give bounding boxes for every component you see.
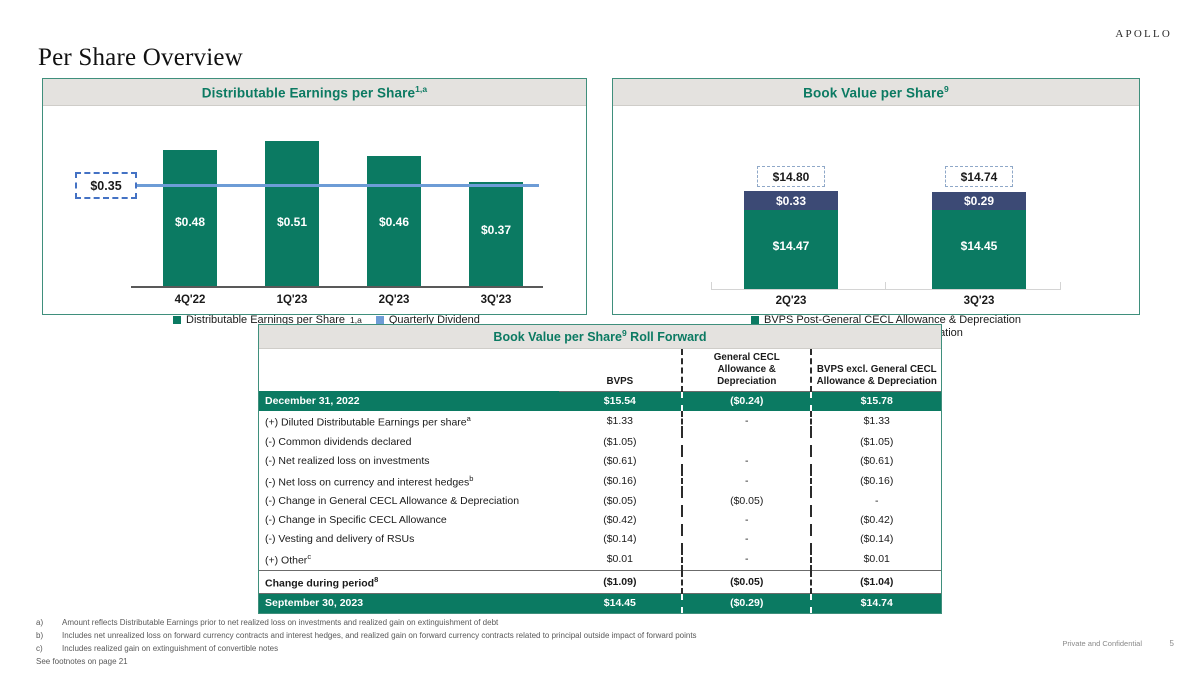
footnote-row-b: b) Includes net unrealized loss on forwa…: [36, 630, 697, 643]
card-title-bvps-superscript: 9: [944, 84, 949, 94]
row-value-cecl: -: [682, 511, 811, 530]
row-value-cecl: ($0.24): [682, 391, 811, 411]
footnote-row-c: c) Includes realized gain on extinguishm…: [36, 643, 697, 656]
stacked-segment-bvps-2q23: $14.47: [744, 210, 838, 289]
stacked-segment-general-cecl-3q23: $0.29: [932, 192, 1026, 210]
row-value-bvps: $0.01: [559, 549, 682, 571]
table-row[interactable]: (-) Vesting and delivery of RSUs ($0.14)…: [259, 530, 941, 549]
row-value-bvps: ($1.09): [559, 571, 682, 594]
table-row[interactable]: September 30, 2023 $14.45 ($0.29) $14.74: [259, 593, 941, 613]
row-value-cecl: -: [682, 451, 811, 470]
segment-value-bvps-2q23: $14.47: [773, 239, 810, 253]
legend-swatch-blue-icon: [376, 316, 384, 324]
chart-plot-area-de: $0.48 $0.51 $0.46 $0.37 $0.35 4Q'22 1Q'2…: [43, 106, 586, 314]
row-value-excl: ($1.05): [811, 432, 941, 451]
col-header-general-cecl: General CECLAllowance & Depreciation: [682, 349, 811, 391]
row-value-excl: $0.01: [811, 549, 941, 571]
row-value-excl: $14.74: [811, 593, 941, 613]
stacked-bar-3q23[interactable]: $0.29 $14.45: [932, 192, 1026, 289]
row-value-cecl: -: [682, 411, 811, 433]
row-label: (+) Otherc: [259, 549, 559, 571]
bar-value-2q23: $0.46: [379, 215, 409, 229]
axis-tick-right: [1060, 282, 1061, 290]
row-value-cecl: [682, 432, 811, 451]
row-value-bvps: $1.33: [559, 411, 682, 433]
footnote-marker-a: a): [36, 617, 62, 630]
stacked-segment-general-cecl-2q23: $0.33: [744, 191, 838, 210]
distributable-earnings-chart-card: Distributable Earnings per Share1,a $0.4…: [42, 78, 587, 315]
row-value-excl: ($0.14): [811, 530, 941, 549]
row-value-excl: ($0.16): [811, 470, 941, 492]
row-value-bvps: ($0.16): [559, 470, 682, 492]
row-value-cecl: ($0.05): [682, 571, 811, 594]
row-label-superscript: c: [307, 552, 311, 561]
x-tick-label-bvps-2q23: 2Q'23: [761, 295, 821, 307]
row-value-cecl: ($0.29): [682, 593, 811, 613]
confidentiality-notice: Private and Confidential: [1062, 639, 1142, 648]
footnote-text-a: Amount reflects Distributable Earnings p…: [62, 617, 498, 630]
page-title: Per Share Overview: [38, 44, 243, 72]
table-row[interactable]: (+) Otherc $0.01 - $0.01: [259, 549, 941, 571]
row-label: (-) Change in General CECL Allowance & D…: [259, 492, 559, 511]
col-header-bvps-excl-general-cecl: BVPS excl. General CECLAllowance & Depre…: [811, 349, 941, 391]
table-row[interactable]: (-) Net realized loss on investments ($0…: [259, 451, 941, 470]
table-row[interactable]: December 31, 2022 $15.54 ($0.24) $15.78: [259, 391, 941, 411]
bar-2q23[interactable]: $0.46: [367, 156, 421, 286]
bar-value-4q22: $0.48: [175, 215, 205, 229]
page-number: 5: [1170, 639, 1174, 648]
table-row-total[interactable]: Change during period8 ($1.09) ($0.05) ($…: [259, 571, 941, 594]
table-row[interactable]: (+) Diluted Distributable Earnings per s…: [259, 411, 941, 433]
footnotes-block: a) Amount reflects Distributable Earning…: [36, 617, 697, 669]
row-value-cecl: -: [682, 470, 811, 492]
row-value-excl: ($0.61): [811, 451, 941, 470]
row-value-excl: -: [811, 492, 941, 511]
row-label: (-) Vesting and delivery of RSUs: [259, 530, 559, 549]
table-header-band: Book Value per Share9 Roll Forward: [259, 325, 941, 349]
stacked-segment-bvps-3q23: $14.45: [932, 210, 1026, 289]
row-value-bvps: ($0.14): [559, 530, 682, 549]
roll-forward-table-card: Book Value per Share9 Roll Forward BVPS …: [258, 324, 942, 614]
footnote-see-page-reference: See footnotes on page 21: [36, 656, 697, 669]
row-value-bvps: $14.45: [559, 593, 682, 613]
legend-swatch-green-icon: [751, 316, 759, 324]
row-value-excl: $1.33: [811, 411, 941, 433]
total-callout-value-2q23: $14.80: [773, 170, 810, 184]
card-title-bvps: Book Value per Share9: [803, 84, 949, 101]
x-tick-label-1q23: 1Q'23: [262, 294, 322, 306]
bar-4q22[interactable]: $0.48: [163, 150, 217, 286]
table-row[interactable]: (-) Common dividends declared ($1.05) ($…: [259, 432, 941, 451]
row-label: (-) Net realized loss on investments: [259, 451, 559, 470]
footnote-text-c: Includes realized gain on extinguishment…: [62, 643, 278, 656]
apollo-logo: APOLLO: [1115, 28, 1172, 40]
quarterly-dividend-reference-line: [135, 184, 539, 187]
row-label-superscript: 8: [374, 575, 378, 584]
segment-value-bvps-3q23: $14.45: [961, 239, 998, 253]
card-header-de: Distributable Earnings per Share1,a: [43, 79, 586, 106]
row-value-bvps: $15.54: [559, 391, 682, 411]
segment-value-general-cecl-3q23: $0.29: [964, 194, 994, 208]
table-title: Book Value per Share9 Roll Forward: [493, 328, 706, 344]
row-value-bvps: ($0.05): [559, 492, 682, 511]
table-column-header-row: BVPS General CECLAllowance & Depreciatio…: [259, 349, 941, 391]
footnote-row-a: a) Amount reflects Distributable Earning…: [36, 617, 697, 630]
row-label: (+) Diluted Distributable Earnings per s…: [259, 411, 559, 433]
bar-3q23[interactable]: $0.37: [469, 182, 523, 286]
row-label: September 30, 2023: [259, 593, 559, 613]
segment-value-general-cecl-2q23: $0.33: [776, 194, 806, 208]
table-row[interactable]: (-) Change in General CECL Allowance & D…: [259, 492, 941, 511]
row-value-cecl: -: [682, 530, 811, 549]
x-axis-line-bvps: [711, 289, 1061, 290]
card-header-bvps: Book Value per Share9: [613, 79, 1139, 106]
stacked-bar-2q23[interactable]: $0.33 $14.47: [744, 191, 838, 289]
row-value-bvps: ($1.05): [559, 432, 682, 451]
bar-1q23[interactable]: $0.51: [265, 141, 319, 286]
row-value-excl: $15.78: [811, 391, 941, 411]
row-value-excl: ($1.04): [811, 571, 941, 594]
bar-value-1q23: $0.51: [277, 215, 307, 229]
table-row[interactable]: (-) Change in Specific CECL Allowance ($…: [259, 511, 941, 530]
col-header-bvps: BVPS: [559, 349, 682, 391]
row-label-superscript: b: [469, 474, 473, 483]
row-label: (-) Common dividends declared: [259, 432, 559, 451]
card-title-de: Distributable Earnings per Share1,a: [202, 84, 427, 101]
dividend-callout-box: $0.35: [75, 172, 137, 199]
footnote-text-b: Includes net unrealized loss on forward …: [62, 630, 697, 643]
dividend-callout-value: $0.35: [90, 179, 121, 193]
table-title-tail: Roll Forward: [627, 331, 707, 345]
row-value-excl: ($0.42): [811, 511, 941, 530]
table-body: December 31, 2022 $15.54 ($0.24) $15.78 …: [259, 391, 941, 613]
legend-swatch-green-icon: [173, 316, 181, 324]
chart-plot-area-bvps: $0.33 $14.47 $14.80 $0.29 $14.45 $14.74 …: [613, 106, 1139, 314]
row-label: December 31, 2022: [259, 391, 559, 411]
x-tick-label-bvps-3q23: 3Q'23: [949, 295, 1009, 307]
x-tick-label-4q22: 4Q'22: [160, 294, 220, 306]
card-title-de-superscript: 1,a: [415, 84, 427, 94]
footnote-marker-c: c): [36, 643, 62, 656]
axis-tick-left: [711, 282, 712, 290]
row-label: (-) Net loss on currency and interest he…: [259, 470, 559, 492]
row-label: Change during period8: [259, 571, 559, 594]
footnote-marker-b: b): [36, 630, 62, 643]
total-callout-3q23: $14.74: [945, 166, 1013, 187]
table-row[interactable]: (-) Net loss on currency and interest he…: [259, 470, 941, 492]
book-value-per-share-chart-card: Book Value per Share9 $0.33 $14.47 $14.8…: [612, 78, 1140, 315]
total-callout-value-3q23: $14.74: [961, 170, 998, 184]
roll-forward-table: BVPS General CECLAllowance & Depreciatio…: [259, 349, 941, 613]
x-axis-line-de: [131, 286, 543, 288]
row-value-cecl: ($0.05): [682, 492, 811, 511]
row-label: (-) Change in Specific CECL Allowance: [259, 511, 559, 530]
x-tick-label-3q23: 3Q'23: [466, 294, 526, 306]
bar-value-3q23: $0.37: [481, 223, 511, 237]
row-value-bvps: ($0.61): [559, 451, 682, 470]
total-callout-2q23: $14.80: [757, 166, 825, 187]
row-label-superscript: a: [467, 414, 471, 423]
x-tick-label-2q23: 2Q'23: [364, 294, 424, 306]
row-value-bvps: ($0.42): [559, 511, 682, 530]
axis-tick-middle: [885, 282, 886, 290]
col-header-blank: [259, 349, 559, 391]
row-value-cecl: -: [682, 549, 811, 571]
